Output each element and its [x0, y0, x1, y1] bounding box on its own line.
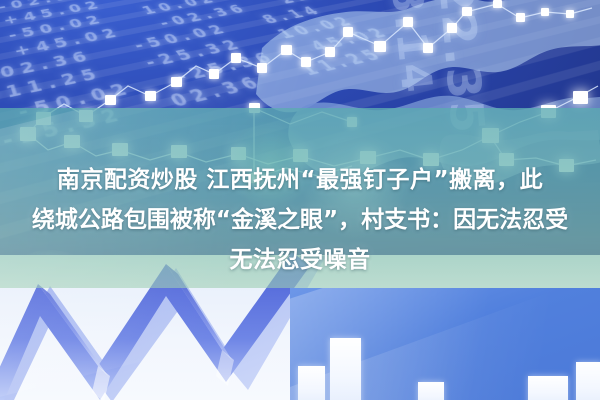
banner-image: -02.36-11.2545.0221.15 -99.02-02.36-02.3…: [0, 0, 600, 400]
headline-text: 南京配资炒股 江西抚州“最强钉子户”搬离，此 绕城公路包围被称“金溪之眼”，村支…: [0, 160, 600, 280]
headline-line-2: 绕城公路包围被称“金溪之眼”，村支书：因无法忍受: [0, 200, 600, 240]
chart-bar: [528, 376, 568, 400]
headline-line-1: 南京配资炒股 江西抚州“最强钉子户”搬离，此: [0, 160, 600, 200]
chart-bar: [330, 338, 361, 400]
chart-bar: [418, 382, 444, 400]
chart-bar: [576, 362, 600, 400]
chart-bar: [298, 366, 325, 400]
headline-line-3: 无法忍受噪音: [0, 240, 600, 280]
